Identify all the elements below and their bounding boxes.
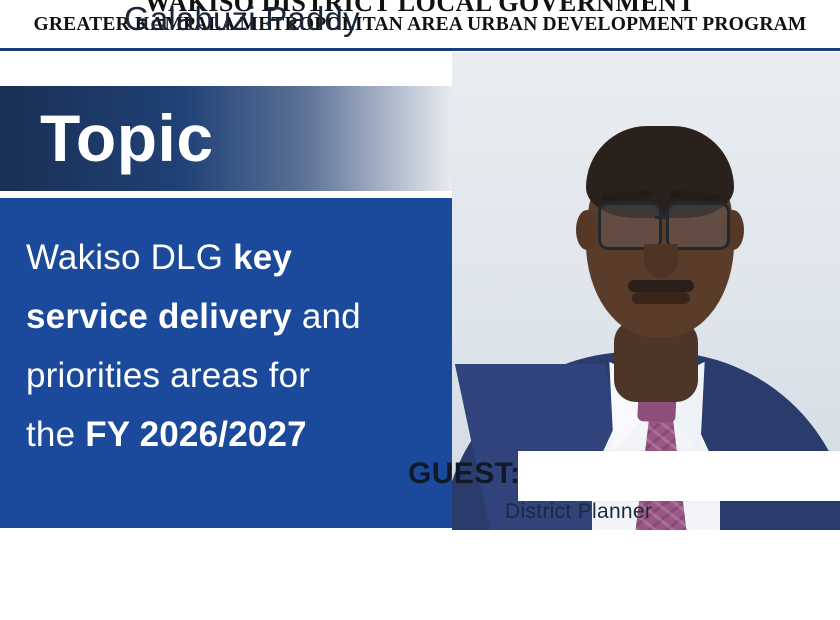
guest-name-box: [518, 451, 840, 501]
guest-label: GUEST:: [408, 457, 520, 491]
topic-line4-bold: FY 2026/2027: [85, 415, 307, 454]
ear-left: [576, 210, 598, 250]
topic-line1-bold: key: [233, 238, 292, 277]
topic-line3: priorities areas for: [26, 356, 310, 395]
topic-line2-plain: and: [292, 297, 361, 336]
guest-info-row: GUEST:: [408, 455, 828, 497]
poster-canvas: WAKISO DISTRICT LOCAL GOVERNMENT GREATER…: [0, 0, 840, 620]
topic-banner-label: Topic: [40, 98, 214, 178]
poster-footer: THURSDAY 19TH | MARCH | 2026 cbs FROM LI…: [0, 530, 840, 620]
eyeglass-bridge: [655, 216, 667, 219]
eyeglass-lens-right: [666, 202, 730, 250]
mustache-shape: [628, 280, 694, 292]
guest-name: Galabuzi Paddy: [124, 0, 360, 38]
header-divider: [0, 48, 840, 51]
nose-shape: [644, 244, 678, 278]
mouth-shape: [632, 292, 690, 304]
topic-line2-bold: service delivery: [26, 297, 292, 336]
eyeglass-lens-left: [598, 202, 662, 250]
topic-line1-plain: Wakiso DLG: [26, 238, 233, 277]
topic-description: Wakiso DLG key service delivery and prio…: [26, 228, 466, 464]
topic-line4-plain: the: [26, 415, 85, 454]
guest-title: District Planner: [505, 500, 652, 524]
